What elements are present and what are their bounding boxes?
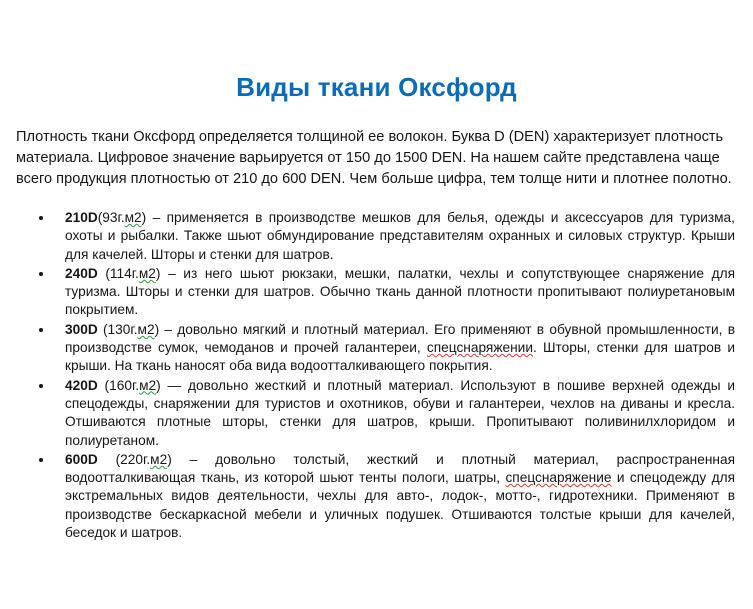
weight-unit: м2 — [138, 322, 155, 337]
density-label: 210D — [65, 210, 98, 225]
list-item: 240D (114г.м2) – из него шьют рюкзаки, м… — [0, 265, 753, 320]
weight-open: (93г. — [98, 210, 125, 225]
list-item: 300D (130г.м2) – довольно мягкий и плотн… — [0, 321, 753, 376]
weight-open: (114г. — [105, 266, 139, 281]
density-label: 420D — [65, 378, 98, 393]
weight-open: (160г. — [105, 378, 140, 393]
weight-close: ) — [156, 266, 161, 281]
density-label: 300D — [65, 322, 98, 337]
dash: – — [153, 210, 161, 225]
weight-unit: м2 — [125, 210, 142, 225]
weight-unit: м2 — [150, 452, 167, 467]
item-body: применяется в производстве мешков для бе… — [65, 210, 735, 262]
density-label: 240D — [65, 266, 98, 281]
density-label: 600D — [65, 452, 98, 467]
list-item: 210D(93г.м2) – применяется в производств… — [0, 209, 753, 264]
weight-unit: м2 — [139, 266, 156, 281]
weight-close: ) — [156, 378, 161, 393]
list-item: 420D (160г.м2) — довольно жесткий и плот… — [0, 377, 753, 450]
dash: – — [168, 266, 176, 281]
dash: — — [167, 378, 181, 393]
page-title: Виды ткани Оксфорд — [0, 71, 753, 103]
weight-close: ) — [142, 210, 147, 225]
fabric-density-list: 210D(93г.м2) – применяется в производств… — [0, 209, 753, 542]
dash: – — [190, 452, 198, 467]
weight-close: ) — [167, 452, 172, 467]
weight-unit: м2 — [139, 378, 156, 393]
weight-close: ) — [155, 322, 160, 337]
list-item: 600D (220г.м2) – довольно толстый, жестк… — [0, 451, 753, 542]
intro-paragraph: Плотность ткани Оксфорд определяется тол… — [16, 127, 738, 191]
article-page: Виды ткани Оксфорд Плотность ткани Оксфо… — [0, 0, 753, 609]
dash: – — [164, 322, 172, 337]
weight-open: (220г. — [116, 452, 151, 467]
item-body: довольно жесткий и плотный материал. Исп… — [65, 378, 735, 448]
misspelled-word: спецснаряжение — [505, 470, 611, 485]
item-body: из него шьют рюкзаки, мешки, палатки, че… — [65, 266, 735, 318]
weight-open: (130г. — [103, 322, 138, 337]
misspelled-word: спецснаряжении — [427, 340, 533, 355]
